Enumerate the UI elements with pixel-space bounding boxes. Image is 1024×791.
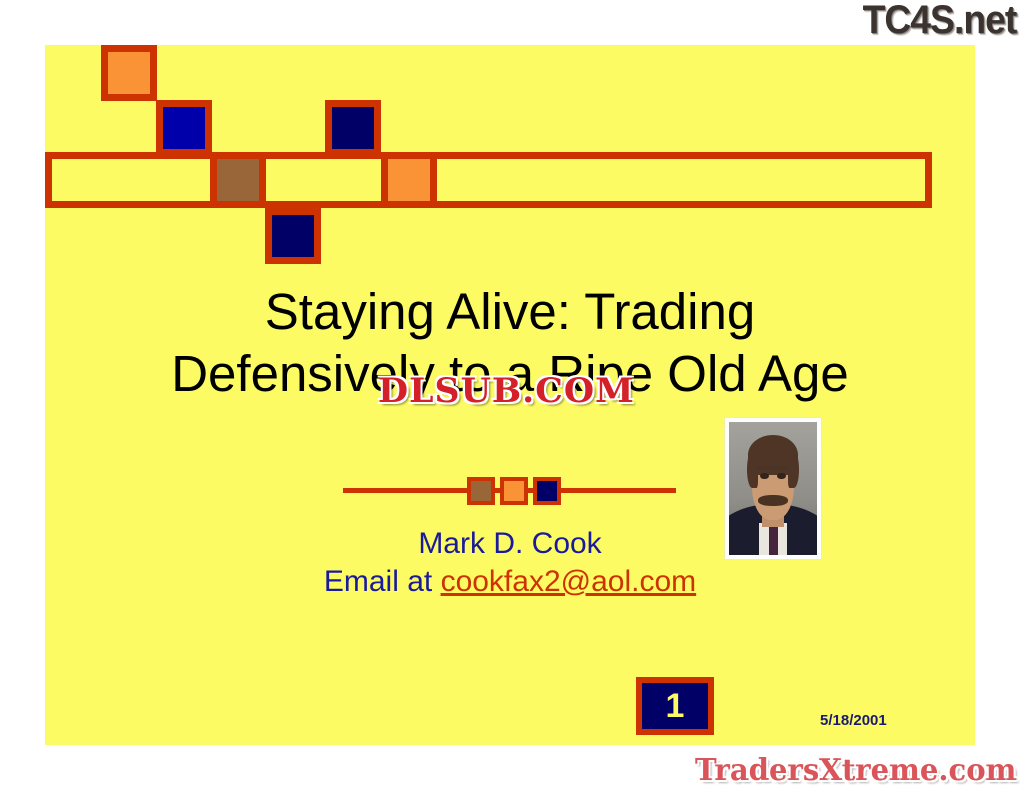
deco-square-blue-left [156, 100, 212, 156]
divider-chip-orange [500, 477, 528, 505]
presentation-slide: Staying Alive: Trading Defensively to a … [45, 45, 975, 745]
dlsub-watermark: DLSUB.COM [378, 372, 635, 410]
tradersxtreme-site-logo: TradersXtreme.com [694, 753, 1016, 789]
photo-hair-right [788, 451, 799, 488]
slide-date: 5/18/2001 [820, 712, 887, 729]
deco-square-navy-mid [325, 100, 381, 156]
photo-hair-left [747, 451, 758, 488]
deco-square-orange-in-bar [381, 152, 437, 208]
deco-square-orange-top [101, 45, 157, 101]
photo-brow [756, 466, 789, 470]
email-link[interactable]: cookfax2@aol.com [441, 565, 697, 598]
presenter-credits: Mark D. Cook Email at cookfax2@aol.com [45, 525, 975, 601]
deco-square-navy-bottom [265, 208, 321, 264]
divider-chip-brown [467, 477, 495, 505]
divider-ornament [343, 476, 676, 506]
header-band-outline [45, 152, 932, 208]
presenter-email-line: Email at cookfax2@aol.com [45, 563, 975, 601]
presenter-name: Mark D. Cook [45, 525, 975, 563]
divider-chip-navy [533, 477, 561, 505]
photo-mustache [758, 495, 788, 506]
photo-eye-left [760, 473, 769, 480]
tc4s-site-logo: TC4S.net [862, 0, 1016, 42]
email-label: Email at [324, 565, 441, 598]
deco-square-brown-in-bar [210, 152, 266, 208]
slide-number-badge: 1 [636, 677, 714, 735]
